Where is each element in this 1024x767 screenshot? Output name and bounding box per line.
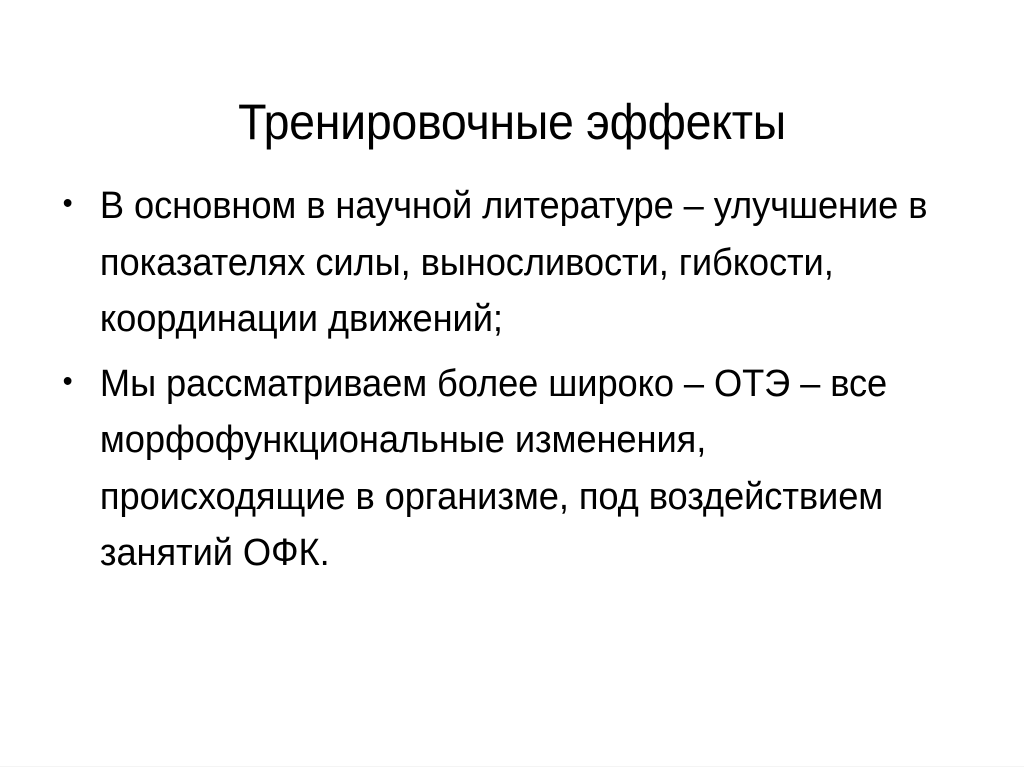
- bullet-item-text: Мы рассматриваем более широко – ОТЭ – вс…: [100, 356, 930, 582]
- bullet-item-text: В основном в научной литературе – улучше…: [100, 178, 930, 348]
- bullet-point-icon: •: [63, 178, 82, 235]
- bullet-point-icon: •: [63, 356, 82, 413]
- presentation-slide: Тренировочные эффекты • В основном в нау…: [0, 0, 1024, 767]
- slide-body-bullet-list: • В основном в научной литературе – улуч…: [56, 178, 971, 582]
- bullet-list-item: • Мы рассматриваем более широко – ОТЭ – …: [56, 356, 930, 582]
- slide-title: Тренировочные эффекты: [36, 91, 988, 153]
- bullet-list-item: • В основном в научной литературе – улуч…: [56, 178, 930, 348]
